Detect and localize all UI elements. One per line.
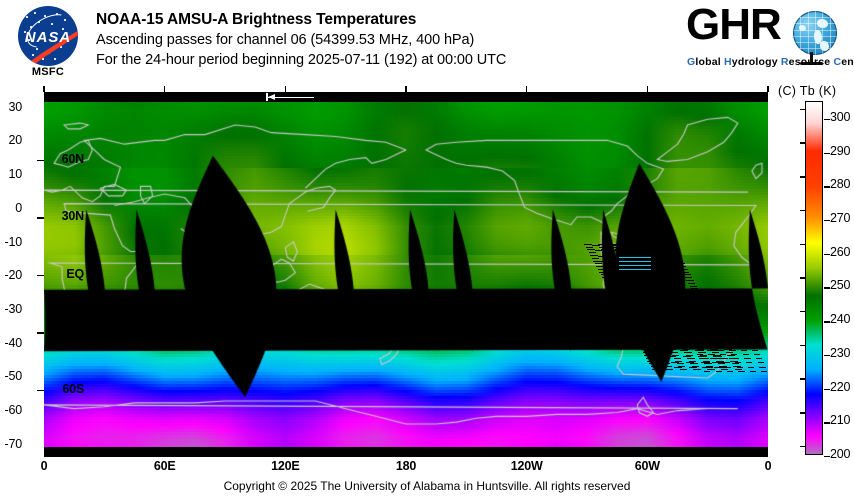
scanline-dropout <box>752 350 758 351</box>
scanline-dropout <box>690 286 697 287</box>
scanline-dropout <box>614 299 621 300</box>
scanline-dropout <box>680 369 687 370</box>
scanline-dropout <box>725 367 731 368</box>
nasa-wordmark: NASA <box>18 29 78 46</box>
colorbar-label-celsius: 20 <box>0 133 22 147</box>
scanline-dropout <box>690 337 696 338</box>
scanline-dropout <box>641 247 648 248</box>
latitude-label: 30N <box>24 209 84 223</box>
scanline-dropout <box>590 255 597 256</box>
scanline-dropout <box>730 324 736 325</box>
scanline-dropout <box>605 258 612 259</box>
colorbar <box>805 101 823 455</box>
scanline-dropout <box>692 341 698 342</box>
scanline-dropout <box>723 362 729 363</box>
scanline-dropout <box>642 324 649 325</box>
scanline-dropout <box>693 345 699 346</box>
title-block: NOAA-15 AMSU-A Brightness Temperatures A… <box>96 10 506 70</box>
scanline-dropout <box>634 286 641 287</box>
scanline-dropout <box>637 341 644 342</box>
ghrc-wordmark: GHR <box>686 0 781 50</box>
scanline-dropout <box>705 313 712 314</box>
scanline-dropout <box>674 358 681 359</box>
scanline-dropout <box>643 302 650 303</box>
scanline-dropout <box>756 358 762 359</box>
scanline-dropout <box>683 274 690 275</box>
scanline-dropout <box>720 354 726 355</box>
scanline-dropout <box>684 352 691 353</box>
scanline-dropout <box>699 358 705 359</box>
scanline-dropout <box>688 333 694 334</box>
scanline-dropout <box>694 319 701 320</box>
longitude-label: 0 <box>765 459 772 473</box>
scanline-dropout <box>708 319 715 320</box>
scanline-dropout <box>649 313 656 314</box>
scanline-dropout <box>666 369 673 370</box>
scanline-dropout <box>633 308 640 309</box>
scanline-dropout <box>754 354 760 355</box>
scanline-dropout <box>700 330 707 331</box>
scanline-dropout <box>716 345 722 346</box>
scanline-dropout <box>641 349 648 350</box>
colorbar-tick-celsius <box>800 378 806 379</box>
top-black-band <box>44 92 768 102</box>
scanline-dropout <box>676 286 683 287</box>
scanline-dropout <box>698 329 704 330</box>
scanline-dropout <box>652 369 659 370</box>
scanline-dropout <box>602 277 609 278</box>
scanline-highlight <box>619 269 651 270</box>
scanline-dropout <box>732 329 738 330</box>
scanline-dropout <box>605 283 612 284</box>
scanline-dropout <box>728 345 734 346</box>
scanline-dropout <box>709 322 716 323</box>
scanline-highlight <box>619 265 651 266</box>
scanline-dropout <box>612 269 619 270</box>
longitude-label: 60W <box>635 459 660 473</box>
colorbar-label-kelvin: 280 <box>830 177 850 191</box>
scanline-dropout <box>738 371 744 372</box>
scanline-dropout-overlay <box>44 102 768 447</box>
scanline-dropout <box>655 324 662 325</box>
scanline-dropout <box>706 316 713 317</box>
scanline-dropout <box>718 350 724 351</box>
scanline-dropout <box>741 324 747 325</box>
scanline-dropout <box>640 347 647 348</box>
scanline-dropout <box>748 367 754 368</box>
scanline-dropout <box>691 313 698 314</box>
colorbar-label-celsius: -30 <box>0 302 22 316</box>
scanline-dropout <box>716 371 722 372</box>
latitude-tick <box>37 160 44 162</box>
scanline-dropout <box>627 247 634 248</box>
scanline-dropout <box>646 358 653 359</box>
scanline-dropout <box>704 371 710 372</box>
bottom-black-band <box>44 447 768 457</box>
scanline-dropout <box>623 316 630 317</box>
brightness-temperature-map <box>44 102 768 447</box>
scanline-dropout <box>651 291 658 292</box>
scanline-dropout <box>697 354 703 355</box>
latitude-label: 60S <box>24 382 84 396</box>
scanline-dropout <box>624 291 631 292</box>
scanline-dropout <box>667 269 674 270</box>
scanline-dropout <box>674 308 681 309</box>
scanline-dropout <box>637 291 644 292</box>
colorbar-label-kelvin: 210 <box>830 413 850 427</box>
scanline-dropout <box>761 371 767 372</box>
scanline-dropout <box>648 286 655 287</box>
scanline-dropout <box>714 341 720 342</box>
longitude-tick <box>43 86 45 92</box>
scanline-dropout <box>673 255 680 256</box>
scanline-dropout <box>682 297 689 298</box>
scanline-dropout <box>661 336 668 337</box>
scanline-dropout <box>651 366 658 367</box>
scanline-dropout <box>684 324 690 325</box>
scanline-dropout <box>737 367 743 368</box>
scanline-dropout <box>601 274 608 275</box>
scanline-dropout <box>688 283 695 284</box>
scanline-dropout <box>611 294 618 295</box>
scanline-dropout <box>653 269 660 270</box>
scanline-dropout <box>665 341 672 342</box>
scanline-dropout <box>743 354 749 355</box>
scanline-dropout <box>616 252 623 253</box>
scanline-dropout <box>607 286 614 287</box>
scanline-dropout <box>747 337 753 338</box>
colorbar-label-celsius: -10 <box>0 235 22 249</box>
scanline-dropout <box>737 341 743 342</box>
scanline-dropout <box>668 347 675 348</box>
scanline-dropout <box>627 297 634 298</box>
scanline-dropout <box>734 333 740 334</box>
colorbar-tick-celsius <box>800 109 806 110</box>
scanline-dropout <box>599 247 606 248</box>
map-plot <box>44 92 768 457</box>
scanline-dropout <box>696 297 703 298</box>
longitude-label: 180 <box>396 459 416 473</box>
scanline-dropout <box>707 350 713 351</box>
scanline-dropout <box>690 363 697 364</box>
scanline-dropout <box>660 358 667 359</box>
scanline-dropout <box>712 362 718 363</box>
scanline-dropout <box>652 319 659 320</box>
colorbar-header: (C) Tb (K) <box>778 84 836 98</box>
scanline-dropout <box>699 302 706 303</box>
scanline-dropout <box>629 327 636 328</box>
scanline-dropout <box>681 347 688 348</box>
scanline-dropout <box>638 344 645 345</box>
longitude-tick <box>647 86 649 92</box>
longitude-tick <box>164 86 166 92</box>
scanline-dropout <box>691 288 698 289</box>
scanline-dropout <box>596 266 603 267</box>
scanline-dropout <box>587 249 594 250</box>
scanline-dropout <box>670 249 677 250</box>
scanline-dropout <box>621 286 628 287</box>
scanline-highlight <box>619 257 651 258</box>
colorbar-label-kelvin: 260 <box>830 245 850 259</box>
scanline-dropout <box>604 280 611 281</box>
scanline-dropout <box>731 354 737 355</box>
scanline-dropout <box>703 311 710 312</box>
colorbar-label-celsius: -60 <box>0 403 22 417</box>
scanline-dropout <box>665 291 672 292</box>
scanline-dropout <box>741 350 747 351</box>
page-title: NOAA-15 AMSU-A Brightness Temperatures <box>96 10 506 30</box>
scanline-dropout <box>649 363 656 364</box>
scanline-dropout <box>709 329 715 330</box>
scanline-dropout <box>630 252 637 253</box>
colorbar-label-celsius: -70 <box>0 437 22 451</box>
scanline-dropout <box>686 280 693 281</box>
scanline-dropout <box>714 330 721 331</box>
scanline-dropout <box>599 272 606 273</box>
colorbar-tick-celsius <box>800 277 806 278</box>
scanline-dropout <box>697 299 704 300</box>
scanline-dropout <box>739 345 745 346</box>
scanline-dropout <box>724 337 730 338</box>
scanline-dropout <box>677 263 684 264</box>
scanline-dropout <box>688 308 695 309</box>
scanline-dropout <box>676 261 683 262</box>
colorbar-tick-celsius <box>800 176 806 177</box>
scanline-dropout <box>628 274 635 275</box>
scanline-dropout <box>620 311 627 312</box>
scanline-dropout <box>746 362 752 363</box>
latitude-tick <box>37 275 44 277</box>
scanline-dropout <box>602 252 609 253</box>
colorbar-label-kelvin: 300 <box>830 110 850 124</box>
scanline-dropout <box>745 333 751 334</box>
scanline-dropout <box>693 291 700 292</box>
scanline-dropout <box>732 363 739 364</box>
scanline-dropout <box>654 297 661 298</box>
colorbar-tick-celsius <box>800 244 806 245</box>
scanline-dropout <box>634 336 641 337</box>
scanline-dropout <box>663 363 670 364</box>
scanline-dropout <box>661 258 668 259</box>
scanline-dropout <box>708 354 714 355</box>
scanline-dropout <box>657 302 664 303</box>
scanline-dropout <box>671 252 678 253</box>
longitude-label: 0 <box>41 459 48 473</box>
colorbar-label-celsius: 30 <box>0 100 22 114</box>
scanline-dropout <box>646 308 653 309</box>
scanline-dropout <box>645 330 652 331</box>
scanline-dropout <box>658 330 665 331</box>
scanline-dropout <box>713 337 719 338</box>
scanline-dropout <box>714 367 720 368</box>
scanline-dropout <box>701 337 707 338</box>
scanline-dropout <box>632 333 639 334</box>
scanline-dropout <box>680 269 687 270</box>
scanline-dropout <box>687 358 694 359</box>
scanline-dropout <box>743 329 749 330</box>
scanline-dropout <box>622 313 629 314</box>
scanline-dropout <box>718 363 725 364</box>
copyright-notice: Copyright © 2025 The University of Alaba… <box>0 479 854 493</box>
scanline-dropout <box>749 341 755 342</box>
colorbar-tick-celsius <box>800 412 806 413</box>
scanline-dropout <box>680 319 687 320</box>
msfc-label: MSFC <box>12 66 84 78</box>
scanline-dropout <box>671 302 678 303</box>
scanline-dropout <box>735 337 741 338</box>
scanline-dropout <box>657 352 664 353</box>
scanline-dropout <box>744 358 750 359</box>
scanline-dropout <box>678 341 685 342</box>
scanline-dropout <box>625 319 632 320</box>
scanline-dropout <box>710 358 716 359</box>
scanline-dropout <box>693 369 700 370</box>
scanline-dropout <box>666 319 673 320</box>
scanline-dropout <box>670 274 677 275</box>
colorbar-label-kelvin: 230 <box>830 346 850 360</box>
colorbar-tick-celsius <box>800 142 806 143</box>
scanline-dropout <box>658 252 665 253</box>
scanline-dropout <box>729 350 735 351</box>
nasa-logo: NASA MSFC <box>12 6 84 82</box>
scanline-dropout <box>660 308 667 309</box>
longitude-tick <box>526 86 528 92</box>
scanline-dropout <box>644 252 651 253</box>
scanline-dropout <box>679 291 686 292</box>
longitude-tick <box>767 86 769 92</box>
scanline-dropout <box>695 347 702 348</box>
scanline-dropout <box>694 294 701 295</box>
scanline-dropout <box>595 263 602 264</box>
scanline-dropout <box>615 274 622 275</box>
left-arrow-marker-icon <box>266 93 314 101</box>
colorbar-gradient <box>806 102 822 454</box>
latitude-tick <box>37 332 44 334</box>
scanline-dropout <box>655 247 662 248</box>
colorbar-label-celsius: -40 <box>0 336 22 350</box>
scanline-dropout <box>664 263 671 264</box>
colorbar-label-celsius: 10 <box>0 167 22 181</box>
scanline-dropout <box>668 297 675 298</box>
latitude-tick <box>37 390 44 392</box>
longitude-tick <box>285 86 287 92</box>
scanline-dropout <box>686 329 692 330</box>
scanline-dropout <box>677 363 684 364</box>
colorbar-label-celsius: -50 <box>0 369 22 383</box>
ghrc-tagline: Global Hydrology Resource Center <box>687 56 854 68</box>
scanline-dropout <box>626 322 633 323</box>
colorbar-label-kelvin: 290 <box>830 144 850 158</box>
scanline-dropout <box>628 324 635 325</box>
scanline-dropout <box>659 280 666 281</box>
scanline-dropout <box>616 302 623 303</box>
scanline-dropout <box>702 367 708 368</box>
scanline-dropout <box>758 362 764 363</box>
scanline-dropout <box>727 371 733 372</box>
colorbar-tick-celsius <box>800 345 806 346</box>
scanline-dropout <box>647 361 654 362</box>
scanline-dropout <box>703 341 709 342</box>
scanline-dropout <box>677 313 684 314</box>
scanline-dropout <box>618 280 625 281</box>
globe-icon <box>793 11 837 55</box>
scanline-dropout <box>610 291 617 292</box>
ghrc-logo: GHR Global Hydrology Resource Center <box>686 4 846 76</box>
colorbar-label-celsius: 0 <box>0 201 22 215</box>
scanline-dropout <box>723 347 730 348</box>
scanline-dropout <box>679 266 686 267</box>
scanline-dropout <box>635 338 642 339</box>
nasa-meatball-icon: NASA <box>18 6 78 66</box>
scanline-dropout <box>722 358 728 359</box>
scanline-dropout <box>685 302 692 303</box>
colorbar-tick-celsius <box>800 311 806 312</box>
scanline-dropout <box>654 347 661 348</box>
scanline-dropout <box>704 363 711 364</box>
scanline-dropout <box>707 324 713 325</box>
scanline-dropout <box>648 336 655 337</box>
scanline-dropout <box>613 247 620 248</box>
colorbar-label-kelvin: 200 <box>830 447 850 461</box>
scanline-dropout <box>643 352 650 353</box>
scanline-dropout <box>631 280 638 281</box>
scanline-dropout <box>750 371 756 372</box>
colorbar-tick-celsius <box>800 210 806 211</box>
scanline-dropout <box>645 280 652 281</box>
scanline-dropout <box>701 362 707 363</box>
scanline-dropout <box>711 333 717 334</box>
scanline-dropout <box>735 362 741 363</box>
scanline-dropout <box>719 324 725 325</box>
scanline-dropout <box>759 367 765 368</box>
longitude-label: 120E <box>271 459 299 473</box>
scanline-dropout <box>700 305 707 306</box>
longitude-label: 60E <box>154 459 176 473</box>
scanline-dropout <box>696 324 702 325</box>
scanline-dropout <box>718 338 725 339</box>
scanline-dropout <box>662 286 669 287</box>
scanline-dropout <box>669 324 676 325</box>
scanline-dropout <box>733 358 739 359</box>
scanline-dropout <box>631 330 638 331</box>
scanline-dropout <box>644 355 651 356</box>
scanline-highlight <box>619 261 651 262</box>
scanline-dropout <box>705 345 711 346</box>
marker-head <box>268 94 275 100</box>
scanline-dropout <box>584 244 591 245</box>
scanline-dropout <box>651 341 658 342</box>
scanline-dropout <box>726 341 732 342</box>
scanline-dropout <box>608 288 615 289</box>
scanline-dropout <box>702 308 709 309</box>
scanline-dropout <box>750 345 756 346</box>
scanline-dropout <box>598 269 605 270</box>
scanline-dropout <box>673 280 680 281</box>
scanline-dropout <box>593 261 600 262</box>
subtitle-period: For the 24-hour period beginning 2025-07… <box>96 50 506 70</box>
scanline-dropout <box>656 274 663 275</box>
scanline-dropout <box>663 313 670 314</box>
scanline-dropout <box>675 336 682 337</box>
colorbar-label-kelvin: 240 <box>830 312 850 326</box>
scanline-dropout <box>709 347 716 348</box>
latitude-label: 30S <box>24 324 84 338</box>
subtitle-channel: Ascending passes for channel 06 (54399.5… <box>96 30 506 50</box>
scanline-dropout <box>685 277 692 278</box>
latitude-label: EQ <box>24 267 84 281</box>
scanline-dropout <box>636 313 643 314</box>
scanline-dropout <box>667 244 674 245</box>
